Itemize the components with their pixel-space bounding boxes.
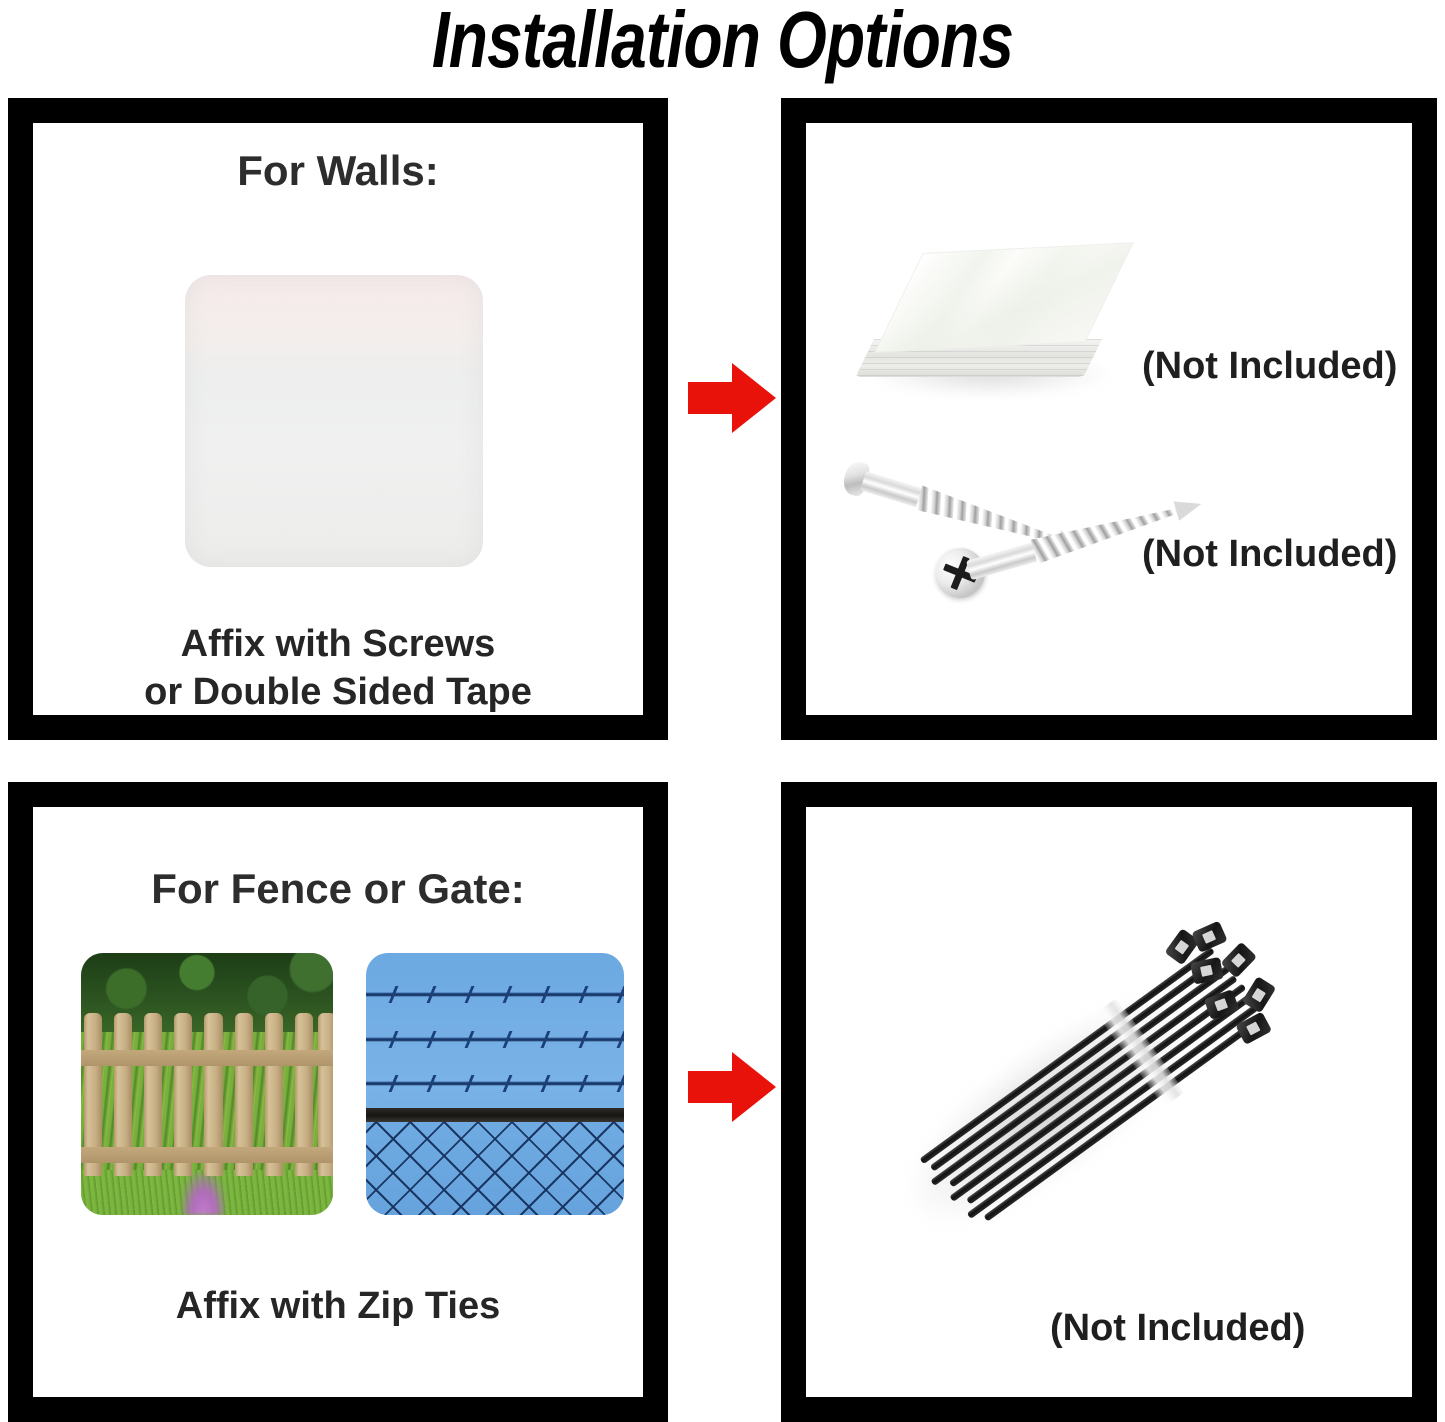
for-fence-caption: Affix with Zip Ties: [33, 1285, 643, 1328]
black-zip-ties-bundle: [866, 855, 1346, 1295]
double-sided-tape-stack: [868, 247, 1118, 405]
panel-for-fence-or-gate: For Fence or Gate:: [8, 782, 668, 1422]
page-title: Installation Options: [145, 0, 1301, 82]
zip-tie-strand: [949, 975, 1238, 1188]
zip-tie-head: [1242, 976, 1277, 1013]
panel-wall-hardware-inner: (Not Included) (Not Included): [806, 123, 1412, 715]
garden-path: [182, 1173, 225, 1215]
for-fence-heading: For Fence or Gate:: [33, 865, 643, 913]
white-brick-wall-swatch: [185, 275, 483, 567]
screw-tip: [1174, 494, 1205, 520]
arrow-shaft: [688, 382, 738, 414]
for-walls-caption-line-1: Affix with Screws: [33, 623, 643, 666]
panel-for-fence-or-gate-inner: For Fence or Gate:: [33, 807, 643, 1397]
arrow-head: [732, 363, 776, 433]
panel-zip-ties: (Not Included): [781, 782, 1437, 1422]
arrow-head: [732, 1052, 776, 1122]
arrow-shaft: [688, 1071, 738, 1103]
chain-link-mesh: [366, 1122, 624, 1215]
fence-top-rail: [366, 1108, 624, 1122]
barbed-wire-strand: [366, 1037, 624, 1042]
zip-tie-head: [1191, 921, 1227, 953]
zip-tie-head: [1220, 942, 1257, 979]
tape-not-included-label: (Not Included): [1142, 345, 1397, 388]
panel-zip-ties-inner: (Not Included): [806, 807, 1412, 1397]
tape-stack-top: [874, 242, 1134, 353]
panel-for-walls: For Walls: Affix with Screws or Double S…: [8, 98, 668, 740]
arrow-right-bottom: [688, 1052, 776, 1122]
for-walls-caption-line-2: or Double Sided Tape: [33, 671, 643, 714]
panel-for-walls-inner: For Walls: Affix with Screws or Double S…: [33, 123, 643, 715]
zip-tie-head: [1204, 989, 1240, 1020]
zip-ties-not-included-label: (Not Included): [1050, 1307, 1305, 1350]
screws-not-included-label: (Not Included): [1142, 533, 1397, 576]
zip-tie-head: [1235, 1011, 1272, 1045]
zip-tie-head: [1190, 957, 1224, 985]
barbed-wire-strand: [366, 1081, 624, 1086]
installation-options-infographic: Installation Options For Walls: Affix wi…: [0, 0, 1445, 1422]
barbed-wire-strand: [366, 992, 624, 997]
chain-link-barbed-wire-fence-photo: [366, 953, 624, 1215]
fence-rail: [81, 1050, 333, 1066]
panel-wall-hardware: (Not Included) (Not Included): [781, 98, 1437, 740]
zip-ties-strands: [806, 807, 1412, 1394]
wooden-picket-fence-photo: [81, 953, 333, 1215]
for-walls-heading: For Walls:: [33, 147, 643, 195]
arrow-right-top: [688, 363, 776, 433]
fence-rail: [81, 1147, 333, 1163]
